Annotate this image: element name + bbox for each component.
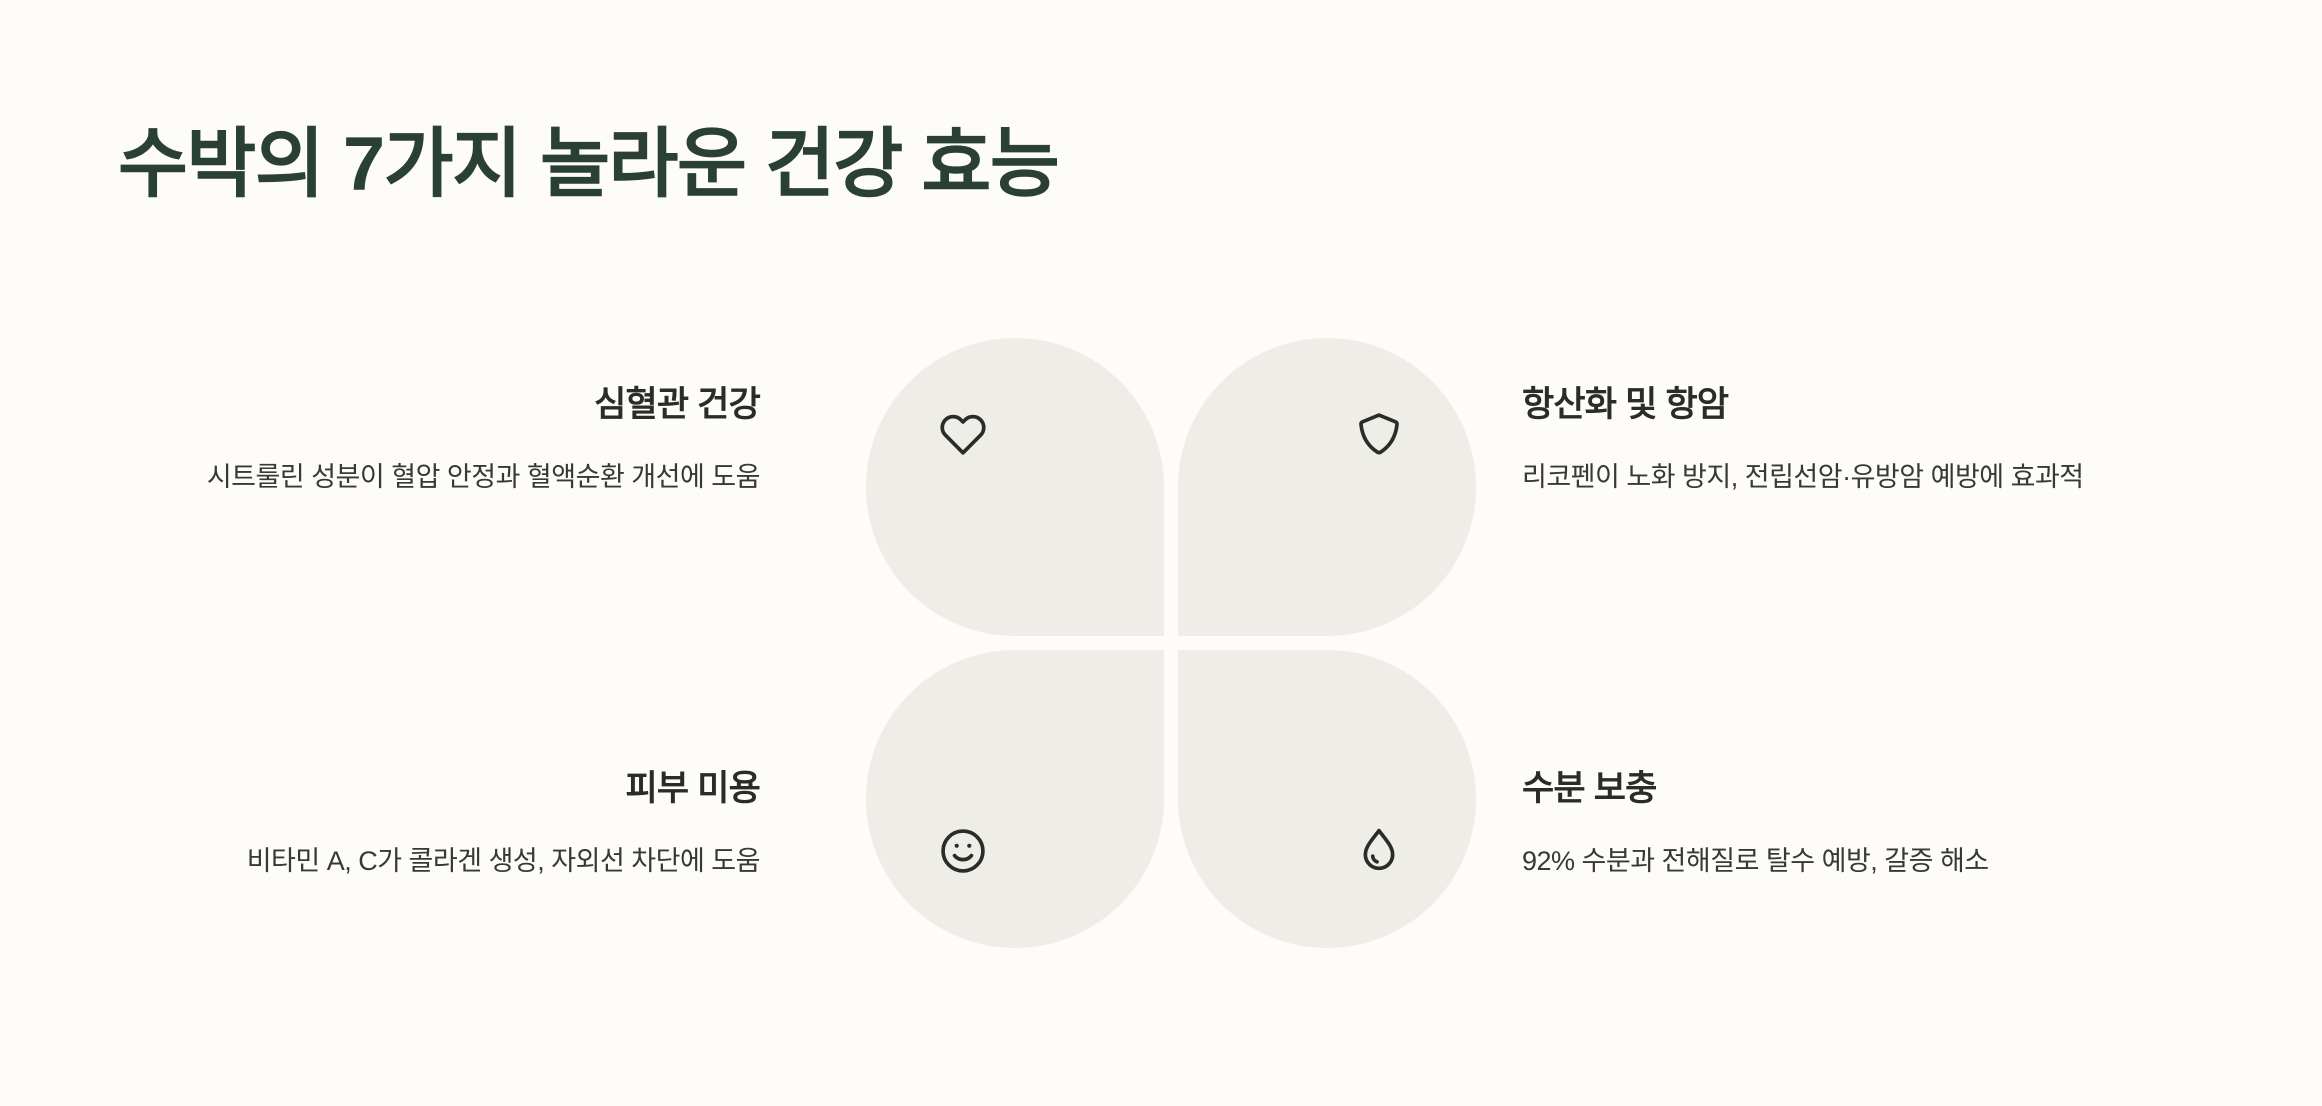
card-title-cardiovascular: 심혈관 건강 bbox=[120, 382, 760, 428]
benefits-infographic: 심혈관 건강 시트룰린 성분이 혈압 안정과 혈액순환 개선에 도움 항산화 및… bbox=[0, 322, 2322, 982]
petal-cardiovascular[interactable] bbox=[866, 338, 1164, 636]
card-text-cardiovascular: 심혈관 건강 시트룰린 성분이 혈압 안정과 혈액순환 개선에 도움 bbox=[120, 322, 760, 499]
petal-hydration[interactable] bbox=[1178, 650, 1476, 948]
card-description-skin-beauty: 비타민 A, C가 콜라겐 생성, 자외선 차단에 도움 bbox=[120, 840, 760, 884]
heart-icon bbox=[937, 409, 989, 461]
card-title-skin-beauty: 피부 미용 bbox=[120, 766, 760, 812]
card-title-antioxidant: 항산화 및 항암 bbox=[1522, 382, 2162, 428]
card-description-antioxidant: 리코펜이 노화 방지, 전립선암·유방암 예방에 효과적 bbox=[1522, 456, 2162, 500]
card-text-hydration: 수분 보충 92% 수분과 전해질로 탈수 예방, 갈증 해소 bbox=[1522, 682, 2162, 883]
card-title-hydration: 수분 보충 bbox=[1522, 766, 2162, 812]
petal-cluster bbox=[866, 338, 1476, 948]
smiley-face-icon bbox=[937, 825, 989, 877]
water-droplet-icon bbox=[1353, 825, 1405, 877]
page-title: 수박의 7가지 놀라운 건강 효능 bbox=[118, 123, 1058, 207]
petal-antioxidant[interactable] bbox=[1178, 338, 1476, 636]
shield-icon bbox=[1353, 409, 1405, 461]
petal-skin-beauty[interactable] bbox=[866, 650, 1164, 948]
card-text-antioxidant: 항산화 및 항암 리코펜이 노화 방지, 전립선암·유방암 예방에 효과적 bbox=[1522, 322, 2162, 499]
card-text-skin-beauty: 피부 미용 비타민 A, C가 콜라겐 생성, 자외선 차단에 도움 bbox=[120, 682, 760, 883]
card-description-cardiovascular: 시트룰린 성분이 혈압 안정과 혈액순환 개선에 도움 bbox=[120, 456, 760, 500]
card-description-hydration: 92% 수분과 전해질로 탈수 예방, 갈증 해소 bbox=[1522, 840, 2162, 884]
